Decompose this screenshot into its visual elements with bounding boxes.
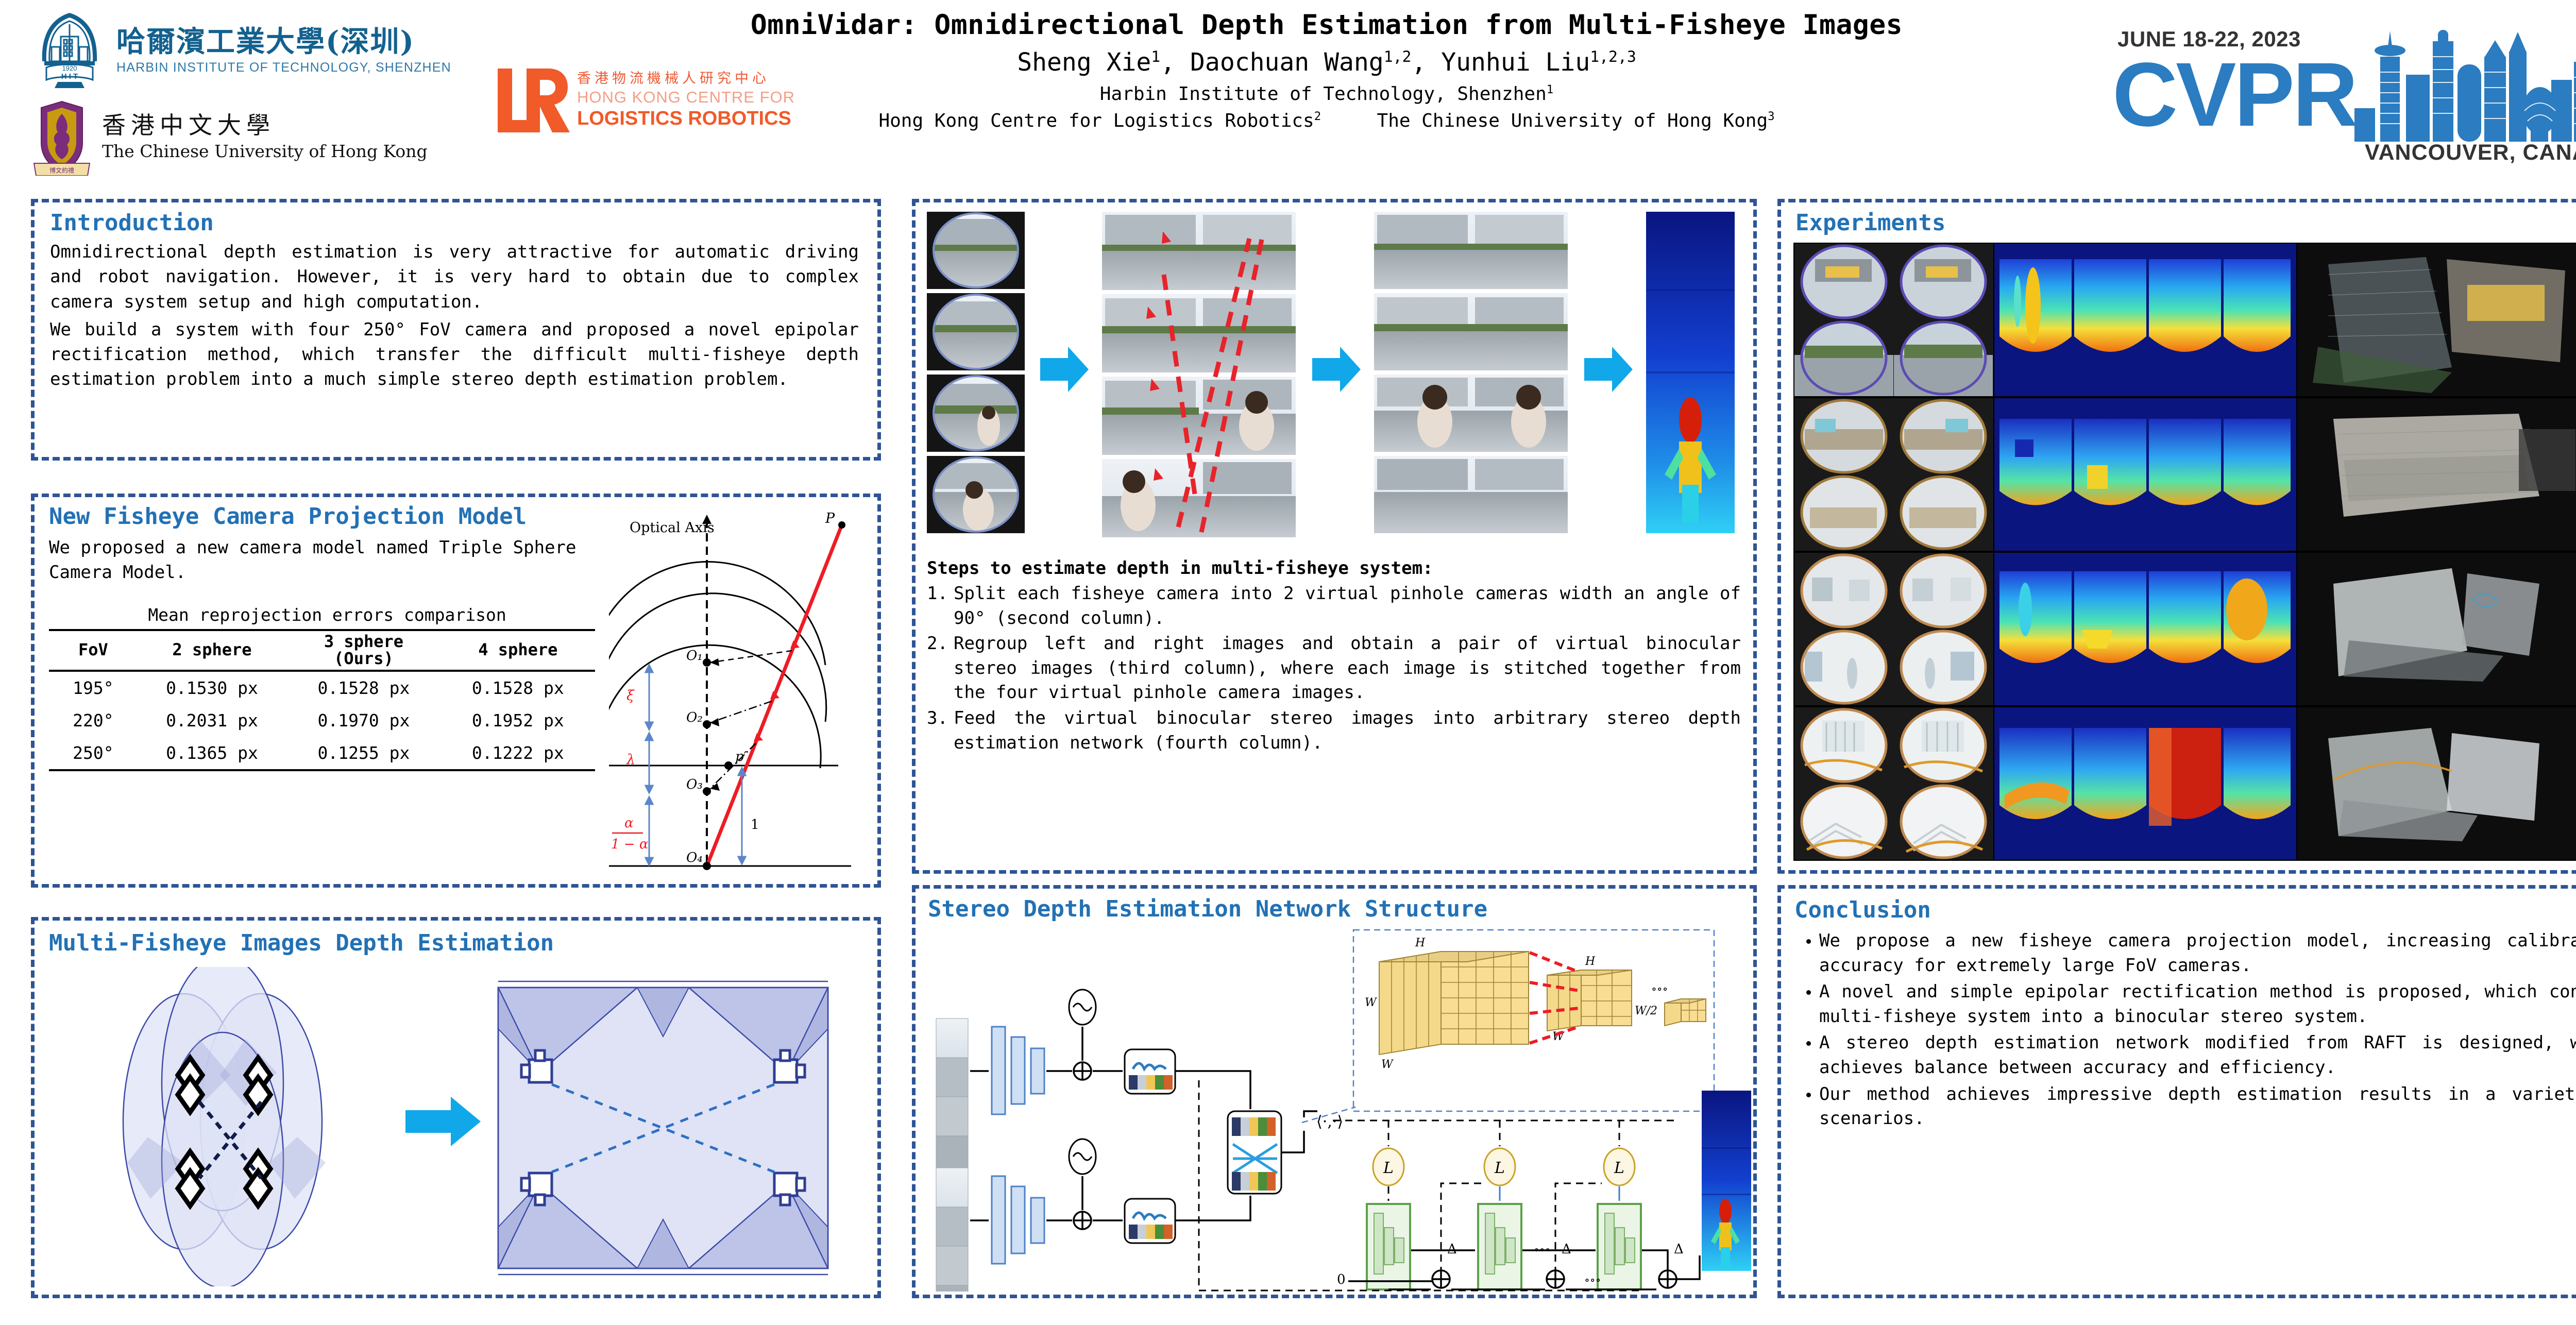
reprojection-error-table: FoV 2 sphere 3 sphere(Ours) 4 sphere 195… bbox=[49, 629, 595, 772]
p-prime-label: p′ bbox=[735, 749, 747, 765]
pipeline-arrow-2-icon bbox=[1312, 347, 1361, 392]
title-block: OmniVidar: Omnidirectional Depth Estimat… bbox=[556, 10, 2097, 132]
hit-logo-english: HARBIN INSTITUTE OF TECHNOLOGY, SHENZHEN bbox=[116, 60, 451, 75]
cv-W2-label: W/2 bbox=[1635, 1005, 1657, 1017]
o2-label: O₂ bbox=[686, 710, 703, 725]
affiliation-1-sup: 1 bbox=[1547, 83, 1553, 96]
steps-title: Steps to estimate depth in multi-fisheye… bbox=[927, 558, 1741, 579]
delta-label-3: Δ bbox=[1674, 1242, 1684, 1257]
table-row: 220° 0.2031 px 0.1970 px 0.1952 px bbox=[49, 704, 595, 737]
hit-crest-icon: 1920 H I T bbox=[31, 10, 108, 92]
author-1: Sheng Xie bbox=[1017, 48, 1151, 77]
feature-encoder-top bbox=[992, 1027, 1044, 1114]
exp-row-1 bbox=[1794, 244, 2576, 396]
network-figure: H W W H W W/2 bbox=[921, 926, 1755, 1292]
correlation-symbol: ⟨·,·⟩ bbox=[1316, 1113, 1343, 1131]
conclusion-bullet-3: A stereo depth estimation network modifi… bbox=[1819, 1031, 2576, 1080]
table-row: 250° 0.1365 px 0.1255 px 0.1222 px bbox=[49, 737, 595, 770]
triple-sphere-diagram: Optical Axis P O₁ O₂ bbox=[609, 511, 869, 871]
conclusion-bullet-2: A novel and simple epipolar rectificatio… bbox=[1819, 980, 2576, 1029]
introduction-paragraph-2: We build a system with four 250° FoV cam… bbox=[50, 317, 859, 392]
column-depth-result bbox=[1646, 212, 1735, 533]
network-panel: Stereo Depth Estimation Network Structur… bbox=[912, 885, 1757, 1298]
cost-volume-inset: H W W H W W/2 bbox=[1302, 930, 1714, 1123]
multifisheye-heading: Multi-Fisheye Images Depth Estimation bbox=[49, 930, 554, 956]
multifisheye-figure bbox=[45, 967, 869, 1286]
author-3-sup: 1,2,3 bbox=[1590, 48, 1636, 66]
poster-header: 1920 H I T 哈爾濱工業大學(深圳) HARBIN INSTITUTE … bbox=[0, 0, 2576, 192]
table-caption: Mean reprojection errors comparison bbox=[49, 605, 605, 625]
pipeline-panel: Steps to estimate depth in multi-fisheye… bbox=[912, 199, 1757, 874]
camera-model-panel: New Fisheye Camera Projection Model We p… bbox=[31, 494, 881, 888]
positional-encoding-bottom-icon bbox=[1069, 1139, 1096, 1174]
optical-axis-label: Optical Axis bbox=[630, 520, 715, 536]
alpha-denominator: 1 − α bbox=[611, 837, 649, 852]
cvpr-wordmark: CVPR bbox=[2112, 49, 2356, 140]
camera-model-intro: We proposed a new camera model named Tri… bbox=[49, 535, 605, 585]
conclusion-bullet-1: We propose a new fisheye camera projecti… bbox=[1819, 929, 2576, 978]
author-1-sup: 1 bbox=[1151, 48, 1160, 66]
poster-root: 1920 H I T 哈爾濱工業大學(深圳) HARBIN INSTITUTE … bbox=[0, 0, 2576, 1325]
multifisheye-panel: Multi-Fisheye Images Depth Estimation bbox=[31, 917, 881, 1298]
cell-250-4sphere: 0.1222 px bbox=[441, 737, 595, 770]
introduction-panel: Introduction Omnidirectional depth estim… bbox=[31, 199, 881, 461]
column-raw-fisheye bbox=[927, 212, 1025, 533]
introduction-body: Omnidirectional depth estimation is very… bbox=[50, 240, 859, 395]
author-2-sup: 1,2 bbox=[1384, 48, 1412, 66]
experiments-image-grid bbox=[1793, 243, 2576, 861]
cell-fov-195: 195° bbox=[49, 671, 138, 704]
exp-row-3 bbox=[1794, 553, 2576, 705]
step-3: Feed the virtual binocular stereo images… bbox=[927, 706, 1741, 755]
experiments-svg bbox=[1793, 243, 2576, 861]
introduction-heading: Introduction bbox=[50, 210, 214, 236]
network-output-depth bbox=[1702, 1091, 1751, 1271]
o1-label: O₁ bbox=[686, 648, 703, 664]
network-svg: H W W H W W/2 bbox=[921, 926, 1755, 1292]
col-2sphere: 2 sphere bbox=[138, 630, 287, 671]
delta-label-2: Δ bbox=[1562, 1242, 1571, 1257]
cv-dots-label: ∘∘∘ bbox=[1651, 983, 1668, 996]
cell-fov-220: 220° bbox=[49, 704, 138, 737]
author-3: Yunhui Liu bbox=[1441, 48, 1590, 77]
cv-W-label-1: W bbox=[1365, 996, 1378, 1009]
step-2: Regroup left and right images and obtain… bbox=[927, 632, 1741, 705]
input-image-stack-bottom bbox=[936, 1168, 968, 1292]
affiliation-3-sup: 3 bbox=[1768, 110, 1774, 123]
cross-attention-block bbox=[1228, 1111, 1281, 1194]
introduction-paragraph-1: Omnidirectional depth estimation is very… bbox=[50, 240, 859, 314]
hit-logo-chinese: 哈爾濱工業大學(深圳) bbox=[116, 27, 451, 56]
conclusion-panel: Conclusion We propose a new fisheye came… bbox=[1777, 885, 2576, 1298]
affiliation-2-sup: 2 bbox=[1314, 110, 1321, 123]
cv-H-label-1: H bbox=[1415, 937, 1426, 949]
cell-250-3sphere: 0.1255 px bbox=[286, 737, 440, 770]
point-P-label: P bbox=[825, 511, 835, 526]
o3-label: O₃ bbox=[686, 777, 703, 792]
exp-row-2 bbox=[1794, 398, 2576, 551]
hit-logo: 1920 H I T 哈爾濱工業大學(深圳) HARBIN INSTITUTE … bbox=[31, 7, 495, 95]
affiliation-2-text: Hong Kong Centre for Logistics Robotics bbox=[878, 110, 1314, 131]
rectified-stereo-diagram bbox=[498, 981, 828, 1275]
self-attention-block-top bbox=[1125, 1049, 1175, 1094]
pipeline-arrow-3-icon bbox=[1584, 347, 1633, 392]
camera-model-heading: New Fisheye Camera Projection Model bbox=[49, 503, 527, 530]
affiliation-1-text: Harbin Institute of Technology, Shenzhen bbox=[1100, 83, 1547, 105]
self-attention-block-bottom bbox=[1125, 1199, 1175, 1243]
residual-add-3 bbox=[1659, 1270, 1676, 1288]
table-header-row: FoV 2 sphere 3 sphere(Ours) 4 sphere bbox=[49, 630, 595, 671]
cell-250-2sphere: 0.1365 px bbox=[138, 737, 287, 770]
author-list: Sheng Xie1, Daochuan Wang1,2, Yunhui Liu… bbox=[556, 48, 2097, 77]
transform-arrow-icon bbox=[405, 1097, 481, 1146]
pipeline-figure bbox=[921, 208, 1745, 548]
pipeline-steps: Steps to estimate depth in multi-fisheye… bbox=[927, 558, 1741, 756]
add-node-top-icon bbox=[1074, 1062, 1091, 1080]
positional-encoding-top-icon bbox=[1069, 990, 1096, 1025]
author-2: Daochuan Wang bbox=[1190, 48, 1384, 77]
input-image-stack-top bbox=[936, 1018, 968, 1175]
conclusion-bullet-4: Our method achieves impressive depth est… bbox=[1819, 1082, 2576, 1131]
step-1: Split each fisheye camera into 2 virtual… bbox=[927, 582, 1741, 631]
affiliation-3-text: The Chinese University of Hong Kong bbox=[1377, 110, 1768, 131]
svg-text:1920: 1920 bbox=[62, 64, 77, 72]
exp-row-4 bbox=[1794, 707, 2576, 860]
lookup-label-3: L bbox=[1614, 1159, 1624, 1177]
col-4sphere: 4 sphere bbox=[441, 630, 595, 671]
table-row: 195° 0.1530 px 0.1528 px 0.1528 px bbox=[49, 671, 595, 704]
delta-label-1: Δ bbox=[1447, 1242, 1457, 1257]
cuhk-logo: 博文約禮 香港中文大學 The Chinese University of Ho… bbox=[31, 96, 495, 178]
cuhk-logo-english: The Chinese University of Hong Kong bbox=[102, 141, 428, 161]
steps-list: Split each fisheye camera into 2 virtual… bbox=[927, 582, 1741, 755]
cell-195-3sphere: 0.1528 px bbox=[286, 671, 440, 704]
cell-220-3sphere: 0.1970 px bbox=[286, 704, 440, 737]
pipeline-arrow-1-icon bbox=[1040, 347, 1089, 392]
multifisheye-svg bbox=[45, 967, 869, 1286]
cvpr-logo: JUNE 18-22, 2023 CVPR bbox=[2107, 10, 2576, 180]
cell-220-2sphere: 0.2031 px bbox=[138, 704, 287, 737]
cvpr-city: VANCOUVER, CANADA bbox=[2365, 140, 2576, 165]
col-fov: FoV bbox=[49, 630, 138, 671]
dots-label-2: ∘∘∘ bbox=[1584, 1274, 1601, 1287]
camera-model-left-column: We proposed a new camera model named Tri… bbox=[49, 535, 605, 771]
experiments-heading: Experiments bbox=[1795, 210, 1945, 236]
lookup-label-2: L bbox=[1494, 1159, 1505, 1177]
affiliation-1: Harbin Institute of Technology, Shenzhen… bbox=[556, 83, 2097, 105]
column-virtual-pinhole bbox=[1102, 212, 1296, 537]
lambda-label: λ bbox=[626, 752, 635, 768]
xi-label: ξ bbox=[626, 688, 635, 704]
lookup-label-1: L bbox=[1383, 1159, 1394, 1177]
add-node-bottom-icon bbox=[1074, 1212, 1091, 1229]
cv-H-label-2: H bbox=[1585, 955, 1596, 968]
feature-encoder-bottom bbox=[992, 1176, 1044, 1264]
pipeline-svg bbox=[921, 208, 1745, 548]
gru-blocks: L L L bbox=[1367, 1148, 1641, 1289]
triple-sphere-svg: Optical Axis P O₁ O₂ bbox=[609, 511, 869, 871]
experiments-panel: Experiments bbox=[1777, 199, 2576, 874]
cell-fov-250: 250° bbox=[49, 737, 138, 770]
conclusion-list: We propose a new fisheye camera projecti… bbox=[1794, 929, 2576, 1133]
vancouver-skyline-icon bbox=[2349, 21, 2576, 142]
cuhk-crest-icon: 博文約禮 bbox=[31, 98, 93, 176]
conclusion-heading: Conclusion bbox=[1794, 897, 1931, 923]
cell-195-2sphere: 0.1530 px bbox=[138, 671, 287, 704]
alpha-numerator: α bbox=[624, 816, 634, 831]
zero-init-label: 0 bbox=[1337, 1272, 1346, 1287]
unit-label: 1 bbox=[751, 817, 759, 833]
column-stitched-stereo bbox=[1374, 212, 1568, 533]
cell-195-4sphere: 0.1528 px bbox=[441, 671, 595, 704]
fisheye-fov-diagram bbox=[123, 967, 326, 1286]
col-3sphere-ours: 3 sphere(Ours) bbox=[286, 630, 440, 671]
o4-label: O₄ bbox=[686, 850, 703, 865]
cuhk-logo-chinese: 香港中文大學 bbox=[102, 113, 428, 137]
svg-text:H I T: H I T bbox=[61, 72, 78, 81]
affiliation-2-3: Hong Kong Centre for Logistics Robotics2… bbox=[556, 110, 2097, 132]
svg-text:博文約禮: 博文約禮 bbox=[49, 166, 74, 174]
paper-title: OmniVidar: Omnidirectional Depth Estimat… bbox=[556, 10, 2097, 40]
network-heading: Stereo Depth Estimation Network Structur… bbox=[928, 896, 1487, 922]
cell-220-4sphere: 0.1952 px bbox=[441, 704, 595, 737]
cv-W-label-2: W bbox=[1381, 1058, 1394, 1071]
